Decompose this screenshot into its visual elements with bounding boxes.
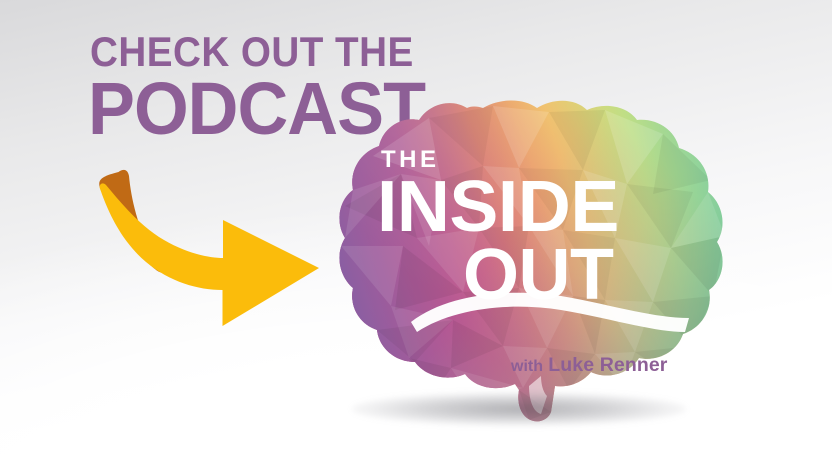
podcast-callout: CHECK OUT THE PODCAST bbox=[88, 34, 358, 334]
byline-name: Luke Renner bbox=[548, 354, 667, 376]
curved-right-arrow bbox=[88, 134, 358, 354]
arrow-fold-icon bbox=[99, 170, 162, 273]
callout-line-1: CHECK OUT THE bbox=[90, 34, 414, 71]
arrow-body-icon bbox=[100, 183, 319, 326]
inside-out-logo: THE INSIDE OUT with Luke Renner bbox=[333, 96, 733, 426]
logo-ground-shadow bbox=[352, 392, 686, 426]
promo-graphic-canvas: CHECK OUT THE PODCAST bbox=[0, 0, 832, 468]
byline-prefix: with bbox=[511, 358, 543, 375]
byline: with Luke Renner bbox=[511, 354, 668, 377]
